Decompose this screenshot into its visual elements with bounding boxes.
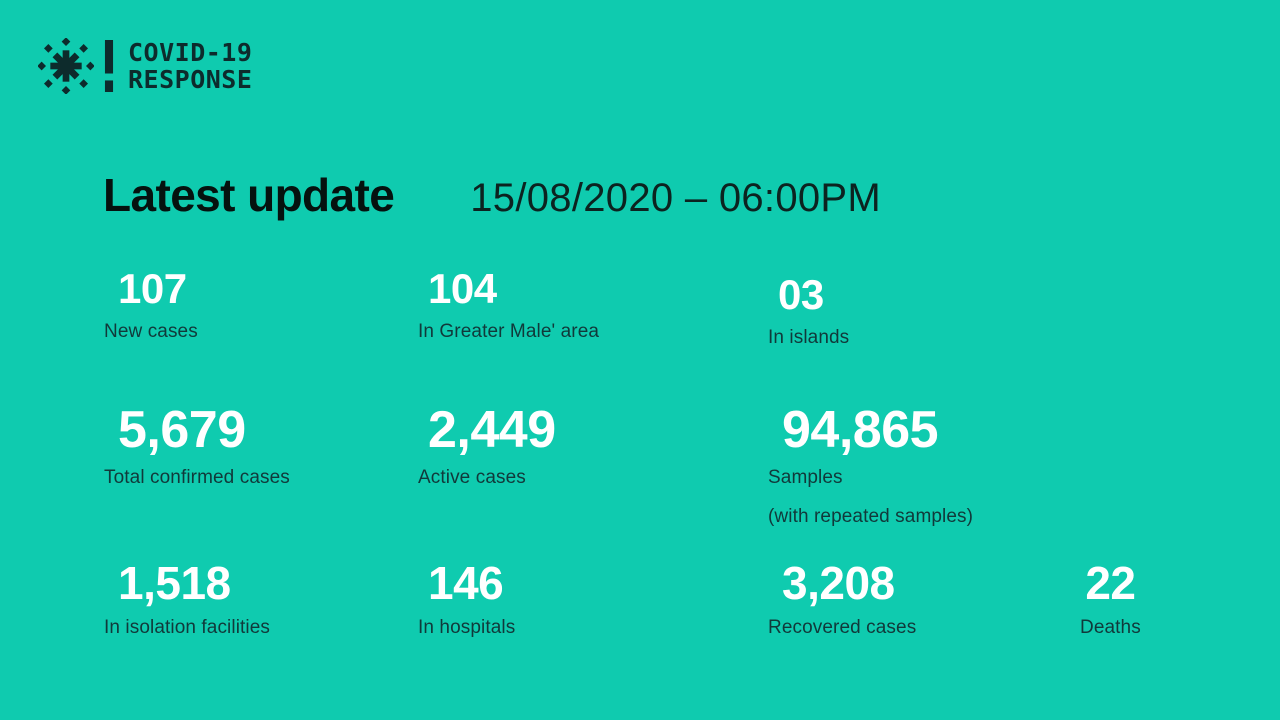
stat-active-cases: 2,449 Active cases xyxy=(418,404,556,489)
exclamation-mark-icon xyxy=(103,40,115,92)
page-title: Latest update xyxy=(103,172,394,218)
stat-label: Deaths xyxy=(1080,617,1141,639)
stat-label: Active cases xyxy=(418,467,556,489)
stat-deaths: 22 Deaths xyxy=(1080,560,1141,639)
stat-greater-male-area: 104 In Greater Male' area xyxy=(418,268,599,343)
stat-in-isolation-facilities: 1,518 In isolation facilities xyxy=(104,560,270,639)
stat-label: In Greater Male' area xyxy=(418,321,599,343)
covid-update-slide: COVID-19 RESPONSE Latest update 15/08/20… xyxy=(0,0,1280,720)
brand-logo-text: COVID-19 RESPONSE xyxy=(128,39,252,93)
stat-value: 1,518 xyxy=(118,560,270,606)
update-timestamp: 15/08/2020 – 06:00PM xyxy=(470,178,881,218)
stat-value: 22 xyxy=(1080,560,1141,606)
stat-label: Total confirmed cases xyxy=(104,467,290,489)
stat-value: 3,208 xyxy=(782,560,916,606)
stat-label: In islands xyxy=(768,327,849,349)
brand-line-2: RESPONSE xyxy=(128,66,252,93)
stat-recovered-cases: 3,208 Recovered cases xyxy=(768,560,916,639)
brand-logo: COVID-19 RESPONSE xyxy=(38,38,252,94)
stat-in-hospitals: 146 In hospitals xyxy=(418,560,515,639)
stat-value: 03 xyxy=(778,274,849,316)
headline: Latest update 15/08/2020 – 06:00PM xyxy=(103,172,881,218)
stat-value: 2,449 xyxy=(428,404,556,456)
stat-label: In hospitals xyxy=(418,617,515,639)
stat-value: 104 xyxy=(428,268,599,310)
stat-value: 94,865 xyxy=(782,404,973,456)
stat-new-cases: 107 New cases xyxy=(104,268,198,343)
stat-label: New cases xyxy=(104,321,198,343)
stat-sublabel: (with repeated samples) xyxy=(768,506,973,528)
stat-label: In isolation facilities xyxy=(104,617,270,639)
stat-value: 5,679 xyxy=(118,404,290,456)
stat-label: Samples xyxy=(768,467,973,489)
stat-value: 146 xyxy=(428,560,515,606)
stat-value: 107 xyxy=(118,268,198,310)
covid-virus-asterisk-icon xyxy=(38,38,94,94)
brand-line-1: COVID-19 xyxy=(128,39,252,66)
stat-in-islands: 03 In islands xyxy=(768,274,849,349)
stat-label: Recovered cases xyxy=(768,617,916,639)
stat-total-confirmed-cases: 5,679 Total confirmed cases xyxy=(104,404,290,489)
stat-samples: 94,865 Samples (with repeated samples) xyxy=(768,404,973,528)
